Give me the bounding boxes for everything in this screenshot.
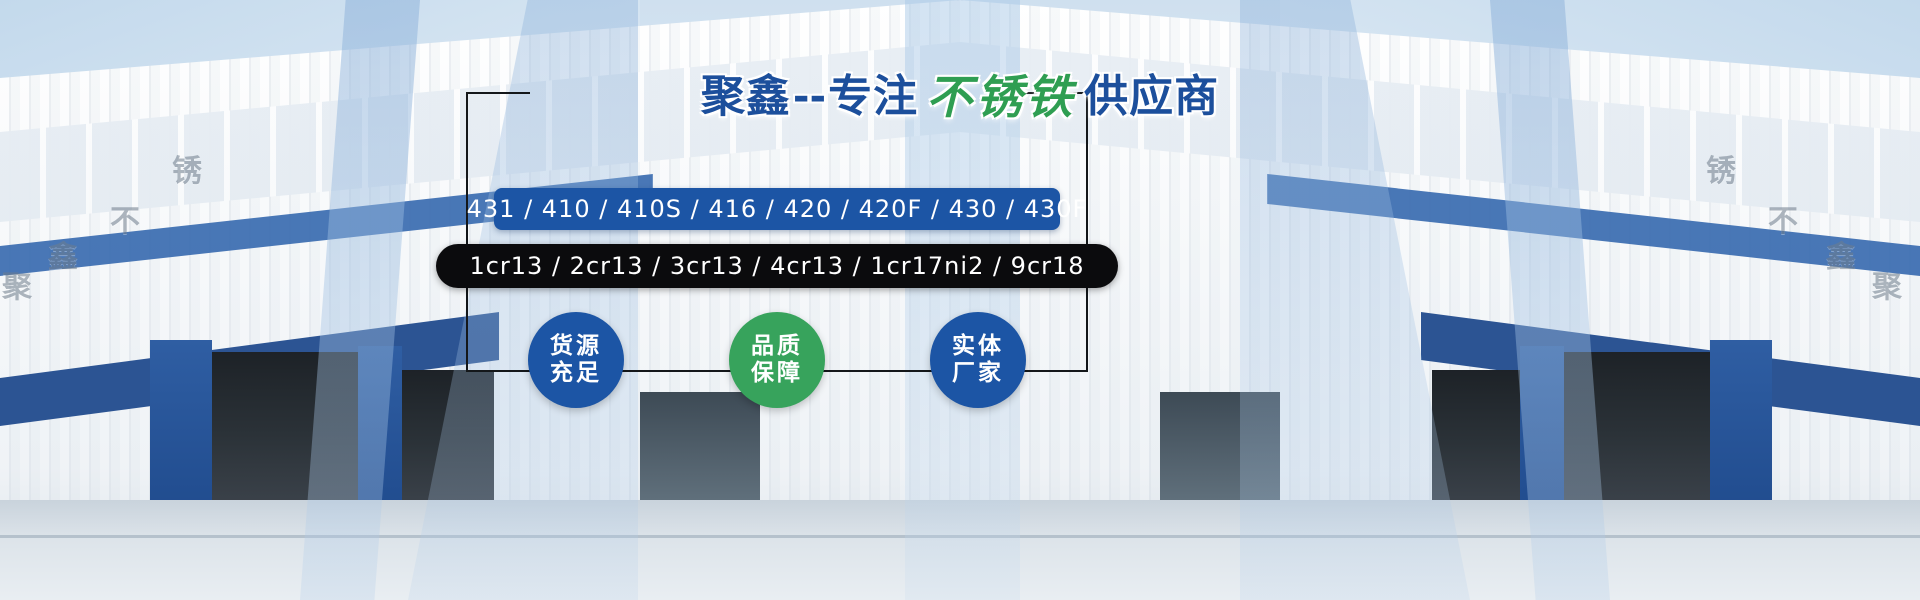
banner-content: 聚鑫--专注不锈铁供应商 431 / 410 / 410S / 416 / 42… [0,0,1920,600]
headline: 聚鑫--专注不锈铁供应商 [0,74,1920,120]
headline-suffix: 供应商 [1084,75,1219,119]
badge-factory-line-2: 厂家 [952,360,1004,387]
headline-highlight: 不锈铁 [918,74,1084,120]
headline-dash: -- [791,77,828,117]
promo-banner: 锈 不 鑫 聚 锈 不 鑫 聚 聚鑫--专注不锈铁供应商 431 / 410 /… [0,0,1920,600]
stainless-grades-secondary-bar: 1cr13 / 2cr13 / 3cr13 / 4cr13 / 1cr17ni2… [436,244,1118,288]
badge-supply-line-1: 货源 [550,333,602,360]
badge-quality-line-2: 保障 [751,360,803,387]
stainless-grades-primary-bar: 431 / 410 / 410S / 416 / 420 / 420F / 43… [494,188,1060,230]
badge-supply: 货源 充足 [528,312,624,408]
badge-quality: 品质 保障 [729,312,825,408]
feature-badges: 货源 充足 品质 保障 实体 厂家 [466,308,1088,412]
badge-factory: 实体 厂家 [930,312,1026,408]
headline-focus: 专注 [828,75,918,119]
badge-quality-line-1: 品质 [751,333,803,360]
headline-brand: 聚鑫 [701,75,791,119]
badge-supply-line-2: 充足 [550,360,602,387]
badge-factory-line-1: 实体 [952,333,1004,360]
